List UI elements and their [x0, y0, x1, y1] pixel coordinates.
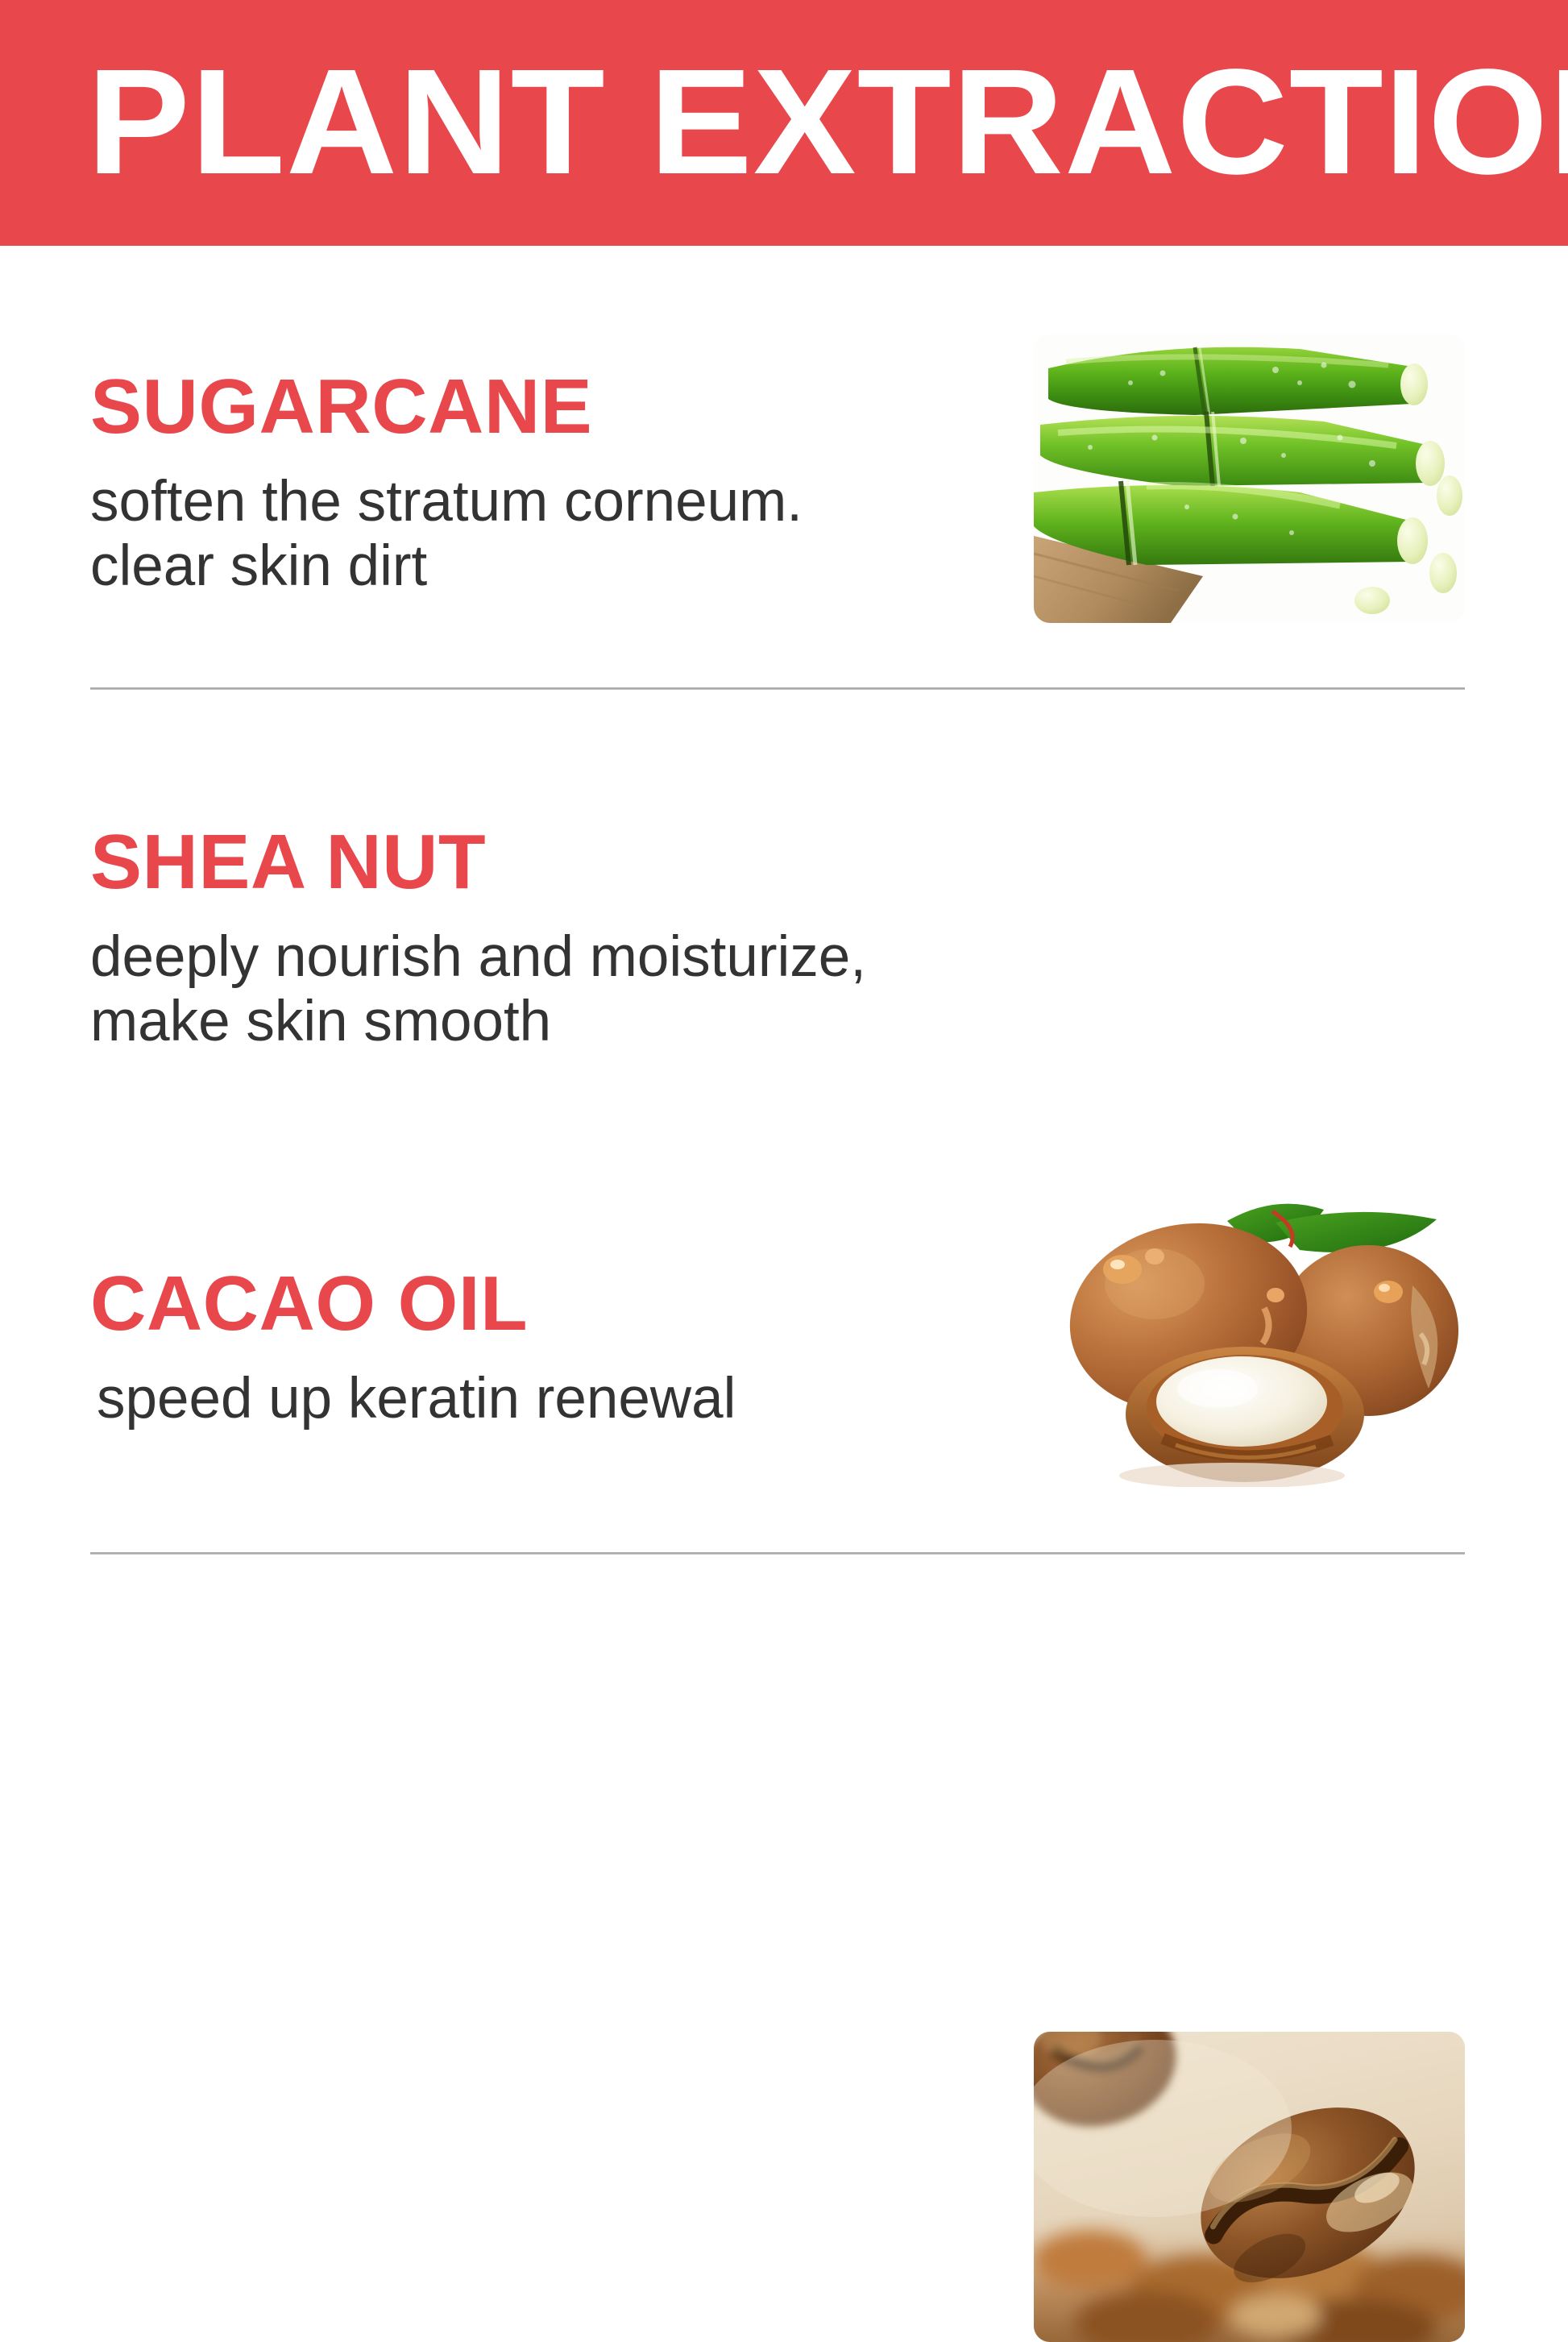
- sugarcane-description: soften the stratum corneum. clear skin d…: [90, 470, 896, 599]
- section-shea-nut: SHEA NUT deeply nourish and moisturize, …: [0, 689, 1568, 1111]
- cacao-oil-title: CACAO OIL: [90, 1264, 896, 1344]
- sugarcane-title: SUGARCANE: [90, 367, 896, 447]
- shea-nut-title: SHEA NUT: [90, 822, 896, 903]
- cacao-oil-description: speed up keratin renewal: [90, 1367, 896, 1431]
- shea-nut-description: deeply nourish and moisturize, make skin…: [90, 925, 896, 1054]
- shea-nut-description-line-1: deeply nourish and moisturize,: [90, 925, 896, 990]
- shea-nut-description-line-2: make skin smooth: [90, 990, 896, 1054]
- cacao-oil-description-line-1: speed up keratin renewal: [97, 1367, 896, 1431]
- sugarcane-description-line-1: soften the stratum corneum.: [90, 470, 896, 534]
- sugarcane-illustration: [1034, 334, 1465, 623]
- sugarcane-description-line-2: clear skin dirt: [90, 534, 896, 599]
- sugarcane-text-column: SUGARCANE soften the stratum corneum. cl…: [90, 367, 896, 599]
- sugarcane-photo: [1034, 334, 1465, 623]
- section-cacao-oil: CACAO OIL speed up keratin renewal: [0, 1111, 1568, 1568]
- cacao-oil-illustration: [1034, 2032, 1465, 2342]
- header-banner: PLANT EXTRACTION: [0, 0, 1568, 246]
- content-area: SUGARCANE soften the stratum corneum. cl…: [0, 246, 1568, 1568]
- cacao-oil-text-column: CACAO OIL speed up keratin renewal: [90, 1264, 896, 1431]
- shea-nut-text-column: SHEA NUT deeply nourish and moisturize, …: [90, 822, 896, 1054]
- section-sugarcane: SUGARCANE soften the stratum corneum. cl…: [0, 246, 1568, 689]
- cacao-oil-photo: [1034, 2032, 1465, 2342]
- page-title: PLANT EXTRACTION: [87, 42, 1531, 203]
